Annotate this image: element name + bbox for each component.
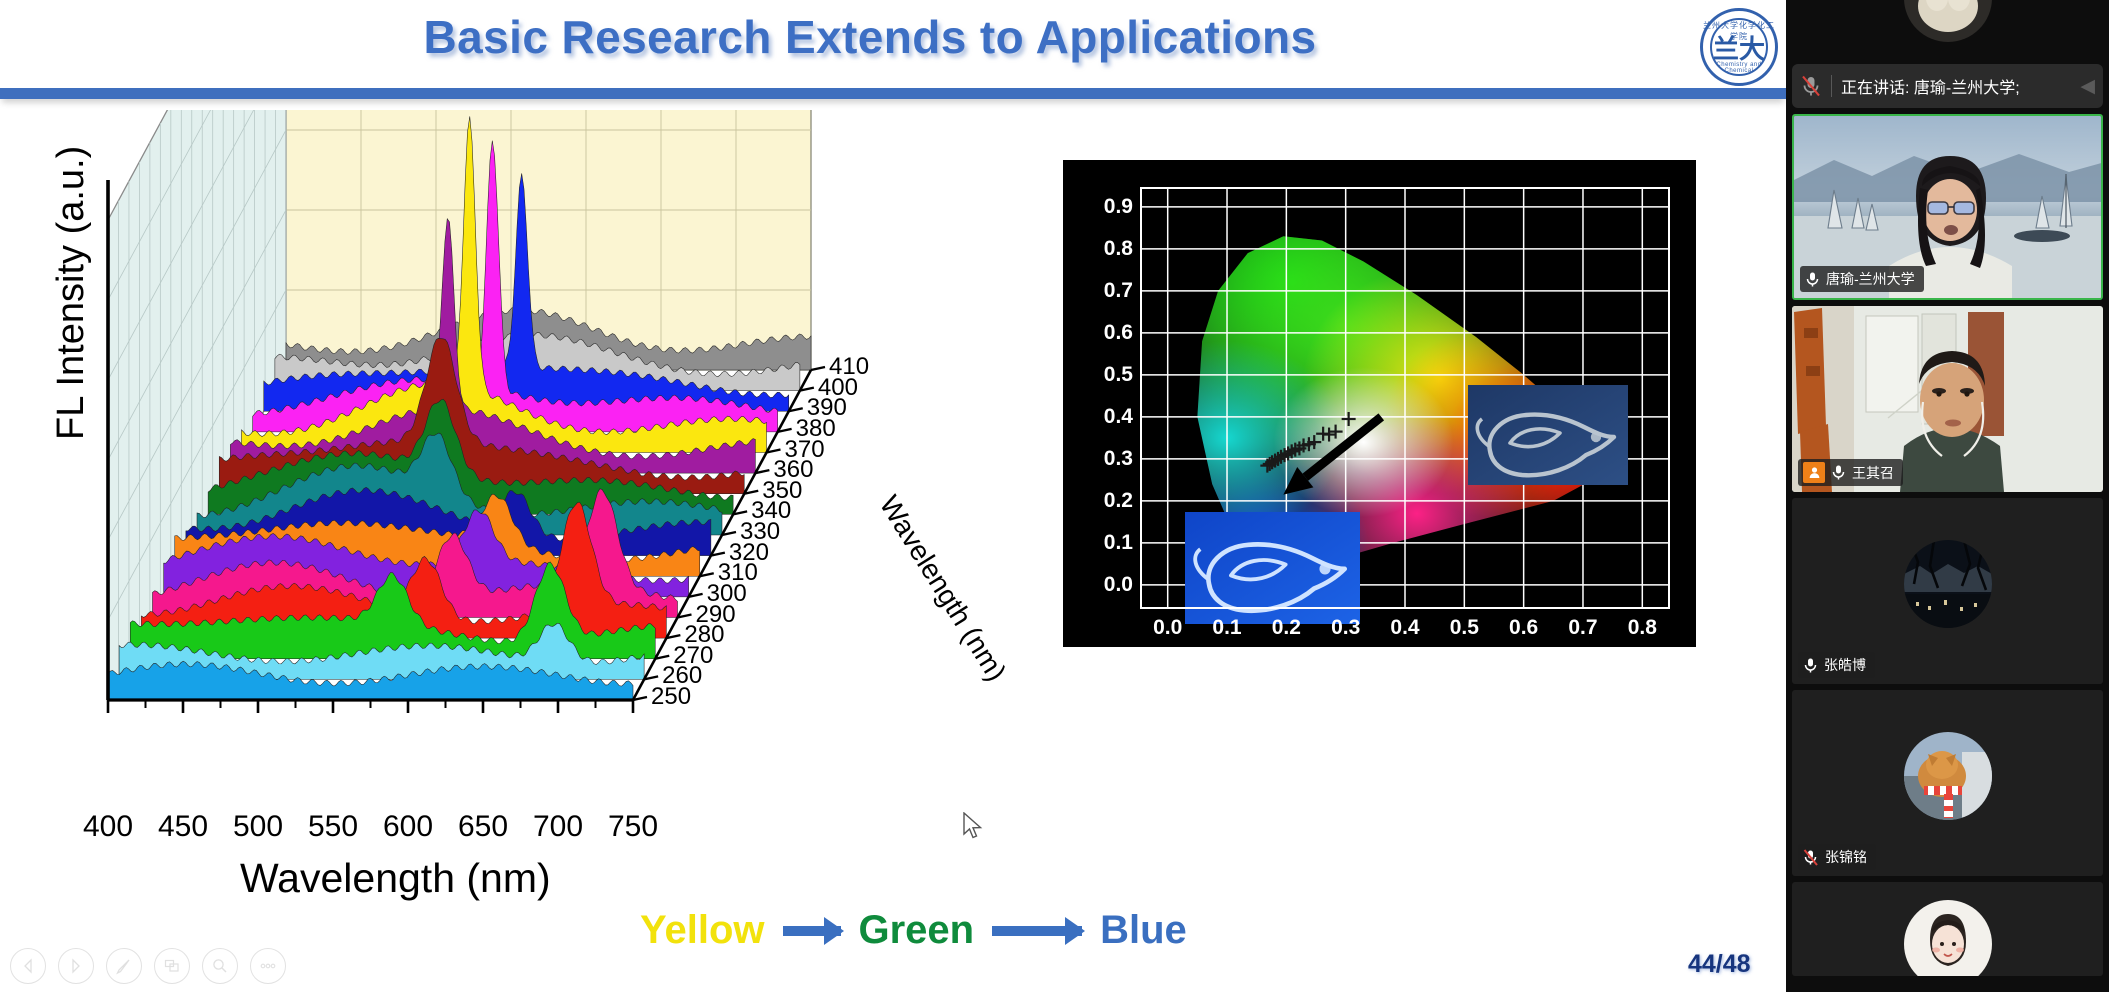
more-options-button[interactable] xyxy=(250,948,286,984)
waterfall-x-tick: 700 xyxy=(533,810,583,844)
magnifier-icon xyxy=(211,957,229,975)
caption-green-label: Green xyxy=(859,908,975,953)
previous-slide-icon xyxy=(20,958,36,974)
cie-x-tick: 0.6 xyxy=(1509,616,1538,640)
next-slide-button[interactable] xyxy=(58,948,94,984)
presentation-slide: Basic Research Extends to Applications 兰… xyxy=(0,0,1786,992)
page-title: Basic Research Extends to Applications xyxy=(0,10,1740,64)
waterfall-x-tick: 650 xyxy=(458,810,508,844)
waterfall-x-tick: 550 xyxy=(308,810,358,844)
participant-name-chip: 张锦铭 xyxy=(1798,844,1876,870)
mic-muted-icon xyxy=(1803,849,1819,866)
university-seal-logo: 兰州大学化学化工学院 兰大 Chemistry and Chemical xyxy=(1700,8,1778,86)
cie-x-tick: 0.8 xyxy=(1628,616,1657,640)
participant-tile-partial-bottom[interactable] xyxy=(1792,882,2103,976)
waterfall-3d-canvas xyxy=(60,110,1080,850)
participant-tile-zhangjinming[interactable]: 张锦铭 xyxy=(1792,690,2103,876)
participant-name-chip: 张皓博 xyxy=(1798,652,1875,678)
participant-name-chip: 唐瑜-兰州大学 xyxy=(1800,266,1924,292)
previous-slide-button[interactable] xyxy=(10,948,46,984)
cie-x-tick: 0.3 xyxy=(1331,616,1360,640)
cie-y-tick: 0.7 xyxy=(1089,279,1133,303)
mouse-cursor-icon xyxy=(963,812,985,842)
bird-photo-dark-inset xyxy=(1468,385,1628,485)
waterfall-z-tick: 410 xyxy=(829,353,869,381)
pen-tool-button[interactable] xyxy=(106,948,142,984)
avatar-image xyxy=(1904,0,1992,42)
cie-x-tick: 0.0 xyxy=(1153,616,1182,640)
participant-tile-tangyu[interactable]: 唐瑜-兰州大学 xyxy=(1792,114,2103,300)
cie-x-tick: 0.4 xyxy=(1390,616,1419,640)
cie-chromaticity-chart: 0.00.10.20.30.40.50.60.70.8 0.00.10.20.3… xyxy=(1063,160,1696,647)
meeting-participants-sidebar[interactable]: 正在讲话: 唐瑜-兰州大学; ◀ xyxy=(1786,0,2109,992)
person-icon xyxy=(1808,466,1821,479)
mic-on-icon xyxy=(1805,271,1820,288)
cie-y-tick: 0.9 xyxy=(1089,195,1133,219)
waterfall-x-tick: 400 xyxy=(83,810,133,844)
waterfall-x-tick: 750 xyxy=(608,810,658,844)
participant-tile-partial-top[interactable] xyxy=(1786,0,2109,58)
cie-y-tick: 0.2 xyxy=(1089,489,1133,513)
zoom-tool-button[interactable] xyxy=(202,948,238,984)
slide-page-number: 44/48 xyxy=(1688,950,1751,979)
cie-x-tick: 0.5 xyxy=(1450,616,1479,640)
cie-x-tick: 0.1 xyxy=(1212,616,1241,640)
cie-x-tick: 0.2 xyxy=(1272,616,1301,640)
cie-y-tick: 0.3 xyxy=(1089,447,1133,471)
avatar-image xyxy=(1904,540,1992,628)
cie-y-tick: 0.5 xyxy=(1089,363,1133,387)
avatar-image xyxy=(1904,900,1992,976)
banner-separator xyxy=(1831,75,1832,97)
participant-name-label: 张皓博 xyxy=(1824,655,1866,675)
participant-tile-zhanghaobo[interactable]: 张皓博 xyxy=(1792,498,2103,684)
presentation-toolbar[interactable] xyxy=(10,948,286,984)
avatar xyxy=(1904,540,1992,628)
avatar xyxy=(1904,732,1992,820)
cie-y-tick: 0.8 xyxy=(1089,237,1133,261)
caption-yellow-label: Yellow xyxy=(640,908,765,953)
ellipsis-icon xyxy=(258,957,278,975)
slide-overview-button[interactable] xyxy=(154,948,190,984)
title-divider-rule xyxy=(0,88,1786,99)
cie-y-tick: 0.1 xyxy=(1089,531,1133,555)
participant-name-label: 王其召 xyxy=(1852,463,1894,483)
waterfall-3d-chart: FL Intensity (a.u.) Wavelength (nm) Wave… xyxy=(60,110,1080,940)
caption-arrow-2-icon xyxy=(992,926,1082,936)
participant-name-label: 唐瑜-兰州大学 xyxy=(1826,269,1915,289)
participant-name-label: 张锦铭 xyxy=(1825,847,1867,867)
participant-name-chip: 王其召 xyxy=(1798,459,1903,486)
avatar xyxy=(1904,900,1992,976)
waterfall-x-tick: 500 xyxy=(233,810,283,844)
host-badge xyxy=(1803,462,1825,483)
cie-x-tick: 0.7 xyxy=(1568,616,1597,640)
next-slide-icon xyxy=(68,958,84,974)
cie-y-tick: 0.0 xyxy=(1089,573,1133,597)
waterfall-x-tick: 600 xyxy=(383,810,433,844)
avatar xyxy=(1904,0,1992,42)
pen-icon xyxy=(115,957,133,975)
color-transition-caption: Yellow Green Blue xyxy=(640,908,1187,953)
cie-y-tick: 0.6 xyxy=(1089,321,1133,345)
cie-y-tick: 0.4 xyxy=(1089,405,1133,429)
mic-on-icon xyxy=(1831,464,1846,481)
seal-bottom-text: Chemistry and Chemical xyxy=(1703,62,1775,74)
active-speaker-label: 正在讲话: 唐瑜-兰州大学; xyxy=(1841,74,2071,98)
waterfall-y-axis-label: FL Intensity (a.u.) xyxy=(50,146,93,440)
participant-tile-wangqizhao[interactable]: 王其召 xyxy=(1792,306,2103,492)
caption-arrow-1-icon xyxy=(783,926,841,936)
waterfall-x-tick: 450 xyxy=(158,810,208,844)
avatar-image xyxy=(1904,732,1992,820)
active-speaker-banner: 正在讲话: 唐瑜-兰州大学; ◀ xyxy=(1792,64,2103,108)
caption-blue-label: Blue xyxy=(1100,908,1187,953)
waterfall-x-axis-label: Wavelength (nm) xyxy=(240,855,551,902)
mic-muted-icon xyxy=(1800,74,1822,98)
cie-canvas xyxy=(1063,160,1696,647)
app-root: Basic Research Extends to Applications 兰… xyxy=(0,0,2109,992)
chevron-left-icon[interactable]: ◀ xyxy=(2080,75,2095,98)
slide-title-bar: Basic Research Extends to Applications 兰… xyxy=(0,0,1786,104)
slides-grid-icon xyxy=(163,957,181,975)
mic-on-icon xyxy=(1803,657,1818,674)
